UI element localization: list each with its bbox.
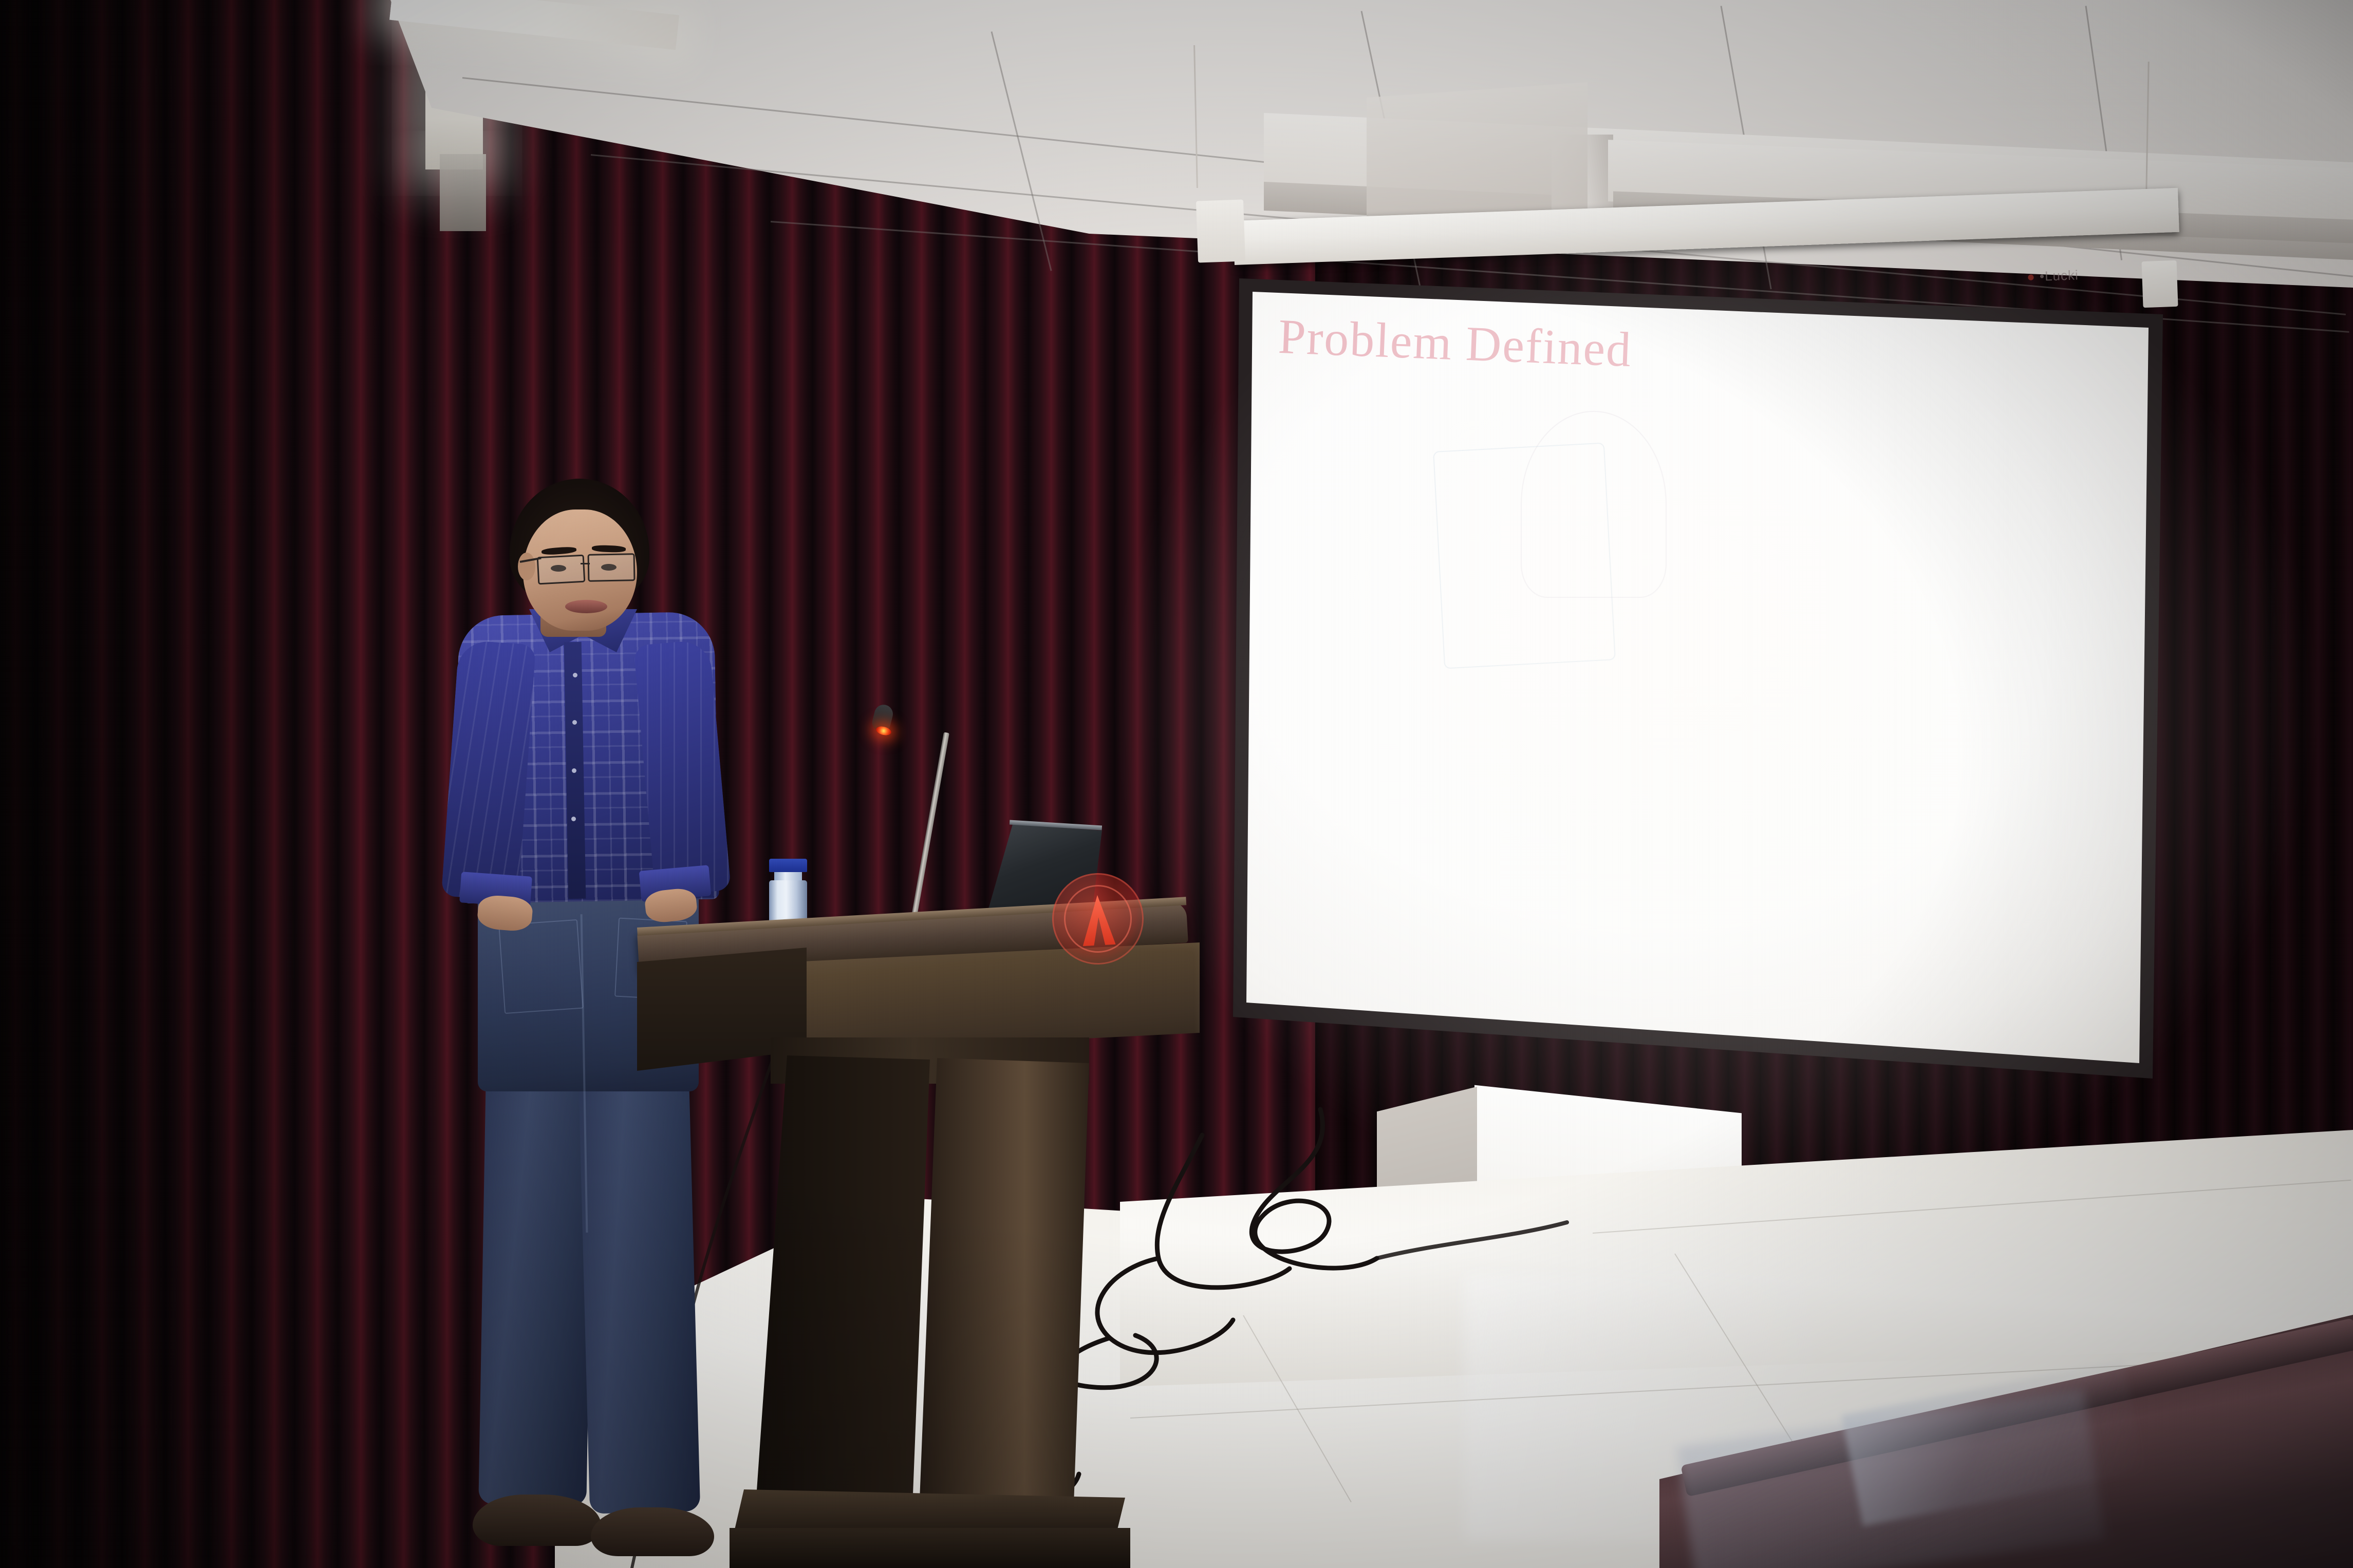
screen-case-endcap-right <box>2141 260 2178 308</box>
glasses-lens-left <box>537 555 586 585</box>
jeans-pocket-left <box>498 919 584 1014</box>
glasses-bridge <box>581 563 590 564</box>
slide-title: Problem Defined <box>1277 308 1633 378</box>
brand-dot-icon: ● <box>2026 269 2035 285</box>
shirt-button <box>572 720 577 725</box>
shirt-button <box>571 817 576 821</box>
screen-brand-logo: ● •Lucki <box>2026 267 2079 285</box>
screen-case-endcap-left <box>1196 199 1245 262</box>
brand-text: •Lucki <box>2039 267 2079 284</box>
presenter-shoe-left <box>473 1495 601 1546</box>
ceiling-light-gap-lower <box>440 154 486 231</box>
presenter-shoe-right <box>591 1507 714 1556</box>
slide-ghost-shape-2 <box>1521 411 1667 598</box>
bottle-neck <box>774 872 801 880</box>
bottle-cap <box>769 859 807 872</box>
stage-left-shadow <box>0 0 360 1568</box>
presenter-mouth <box>565 600 607 613</box>
presenter-ear <box>518 553 535 580</box>
presentation-scene: ● •Lucki Problem Defined <box>0 0 2353 1568</box>
glasses-lens-right <box>588 553 636 582</box>
podium-plinth-base <box>730 1528 1130 1568</box>
projection-screen-surface: Problem Defined <box>1233 257 2163 1089</box>
shirt-button <box>572 768 576 773</box>
shirt-button <box>573 673 577 677</box>
podium-column-front <box>920 1058 1089 1505</box>
